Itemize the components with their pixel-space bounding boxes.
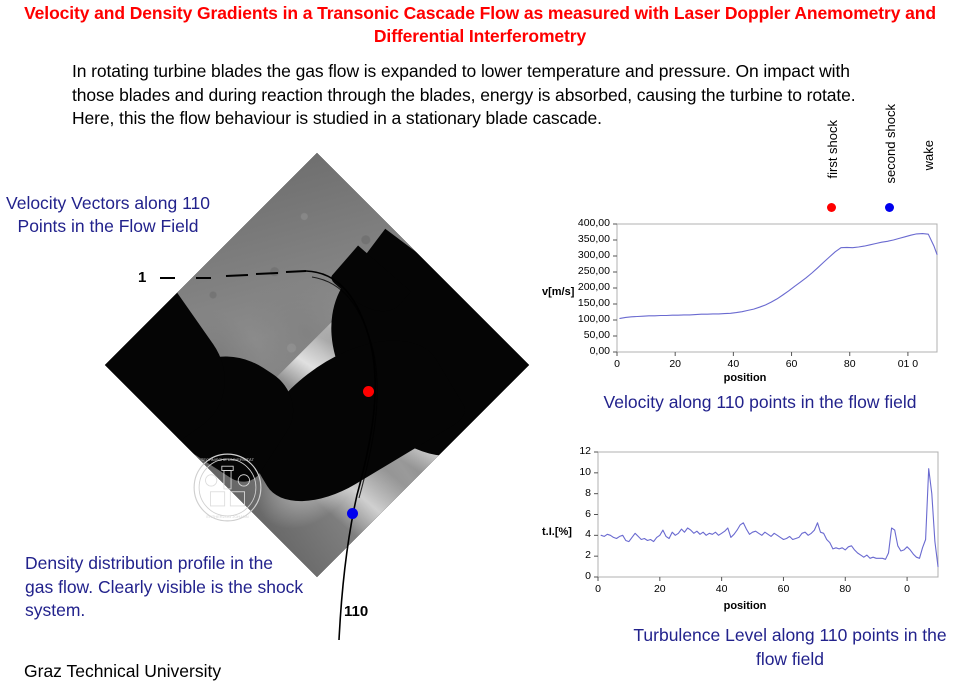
caption-velocity-chart: Velocity along 110 points in the flow fi… [560,391,960,414]
y-tick-label: 350,00 [540,233,610,245]
annotation-dot-second-shock [885,203,894,212]
x-tick-label: 0 [578,583,618,595]
caption-density: Density distribution profile in the gas … [25,552,305,623]
y-tick-label: 400,00 [540,217,610,229]
y-tick-label: 10 [540,466,591,478]
x-tick-label: 60 [763,583,803,595]
label-point-end: 110 [344,603,368,620]
annotation-wake: wake [922,140,935,170]
x-tick-label: 60 [772,358,812,370]
label-point-start: 1 [138,269,146,286]
annotation-first-shock: first shock [826,120,839,179]
x-tick-label: 20 [655,358,695,370]
y-tick-label: 100,00 [540,313,610,325]
intro-paragraph: In rotating turbine blades the gas flow … [72,60,872,131]
y-tick-label: 0 [540,570,591,582]
x-tick-label: 0 [887,583,927,595]
y-tick-label: 4 [540,528,591,540]
caption-turbulence-chart: Turbulence Level along 110 points in the… [620,623,960,671]
y-tick-label: 6 [540,508,591,520]
y-tick-label: 8 [540,487,591,499]
y-tick-label: 50,00 [540,329,610,341]
turbulence-chart-xlabel: position [540,600,950,612]
x-tick-label: 40 [702,583,742,595]
svg-text:TECHNISCHE UNIVERSITÄT: TECHNISCHE UNIVERSITÄT [201,457,255,462]
y-tick-label: 150,00 [540,297,610,309]
svg-text:ERZHERZOG JOHANN: ERZHERZOG JOHANN [206,514,248,519]
x-tick-label: 01 0 [888,358,928,370]
y-tick-label: 0,00 [540,345,610,357]
x-tick-label: 80 [825,583,865,595]
page-title: Velocity and Density Gradients in a Tran… [0,2,960,48]
x-tick-label: 40 [713,358,753,370]
x-tick-label: 80 [830,358,870,370]
x-tick-label: 20 [640,583,680,595]
y-tick-label: 300,00 [540,249,610,261]
caption-velocity-vectors: Velocity Vectors along 110 Points in the… [0,192,222,238]
y-tick-label: 2 [540,549,591,561]
annotation-second-shock: second shock [884,104,897,184]
velocity-chart: v[m/s] position 0,0050,00100,00150,00200… [540,212,950,387]
marker-second-shock [347,508,358,519]
y-tick-label: 12 [540,445,591,457]
slide-canvas: Velocity and Density Gradients in a Tran… [0,0,960,687]
y-tick-label: 200,00 [540,281,610,293]
y-tick-label: 250,00 [540,265,610,277]
marker-first-shock [363,386,374,397]
turbulence-chart: t.I.[%] position 0246810120204060800 [540,440,950,615]
velocity-chart-xlabel: position [540,372,950,384]
university-seal-icon: TECHNISCHE UNIVERSITÄT ERZHERZOG JOHANN [192,452,263,523]
university-label: Graz Technical University [24,661,221,682]
annotation-dot-first-shock [827,203,836,212]
x-tick-label: 0 [597,358,637,370]
